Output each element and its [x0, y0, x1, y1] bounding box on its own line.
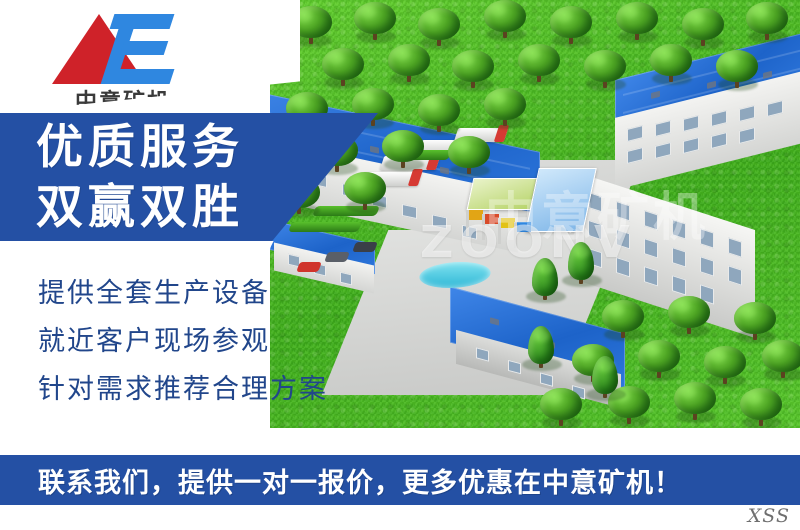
- tree-icon: [482, 0, 528, 44]
- promo-poster: 中意矿机 ZOONV 中意矿机 优质服务 双赢双胜 提供全套生产设备 就近客户现…: [0, 0, 800, 530]
- logo-e-bar-top: [110, 14, 175, 29]
- company-logo: 中意矿机: [50, 8, 190, 108]
- footer-banner: 联系我们，提供一对一报价，更多优惠在中意矿机！: [0, 455, 800, 505]
- white-divider: [0, 428, 800, 455]
- tree-icon: [558, 246, 604, 290]
- tree-icon: [380, 130, 426, 174]
- hedge-row: [288, 222, 362, 232]
- tree-icon: [672, 382, 718, 426]
- tree-icon: [446, 136, 492, 180]
- logo-e-bar-middle: [120, 41, 169, 55]
- tree-icon: [516, 44, 562, 88]
- tree-icon: [352, 2, 398, 46]
- building-workshop-northeast: [615, 55, 800, 185]
- tree-icon: [614, 2, 660, 46]
- bullet-item: 针对需求推荐合理方案: [38, 366, 378, 414]
- tree-icon: [648, 44, 694, 88]
- tree-icon: [538, 388, 584, 430]
- tree-icon: [666, 296, 712, 340]
- tree-icon: [600, 300, 646, 344]
- tree-icon: [636, 340, 682, 384]
- car: [324, 252, 350, 262]
- tree-icon: [320, 48, 366, 92]
- car: [352, 242, 378, 252]
- footer-text: 联系我们，提供一对一报价，更多优惠在中意矿机！: [38, 461, 682, 500]
- tree-icon: [582, 360, 628, 404]
- logo-e-bar-bottom: [104, 69, 175, 84]
- tree-icon: [714, 50, 760, 94]
- tree-icon: [386, 44, 432, 88]
- corner-watermark: XSS: [748, 505, 790, 527]
- bullet-item: 就近客户现场参观: [38, 318, 378, 366]
- bullet-list: 提供全套生产设备 就近客户现场参观 针对需求推荐合理方案: [38, 270, 378, 414]
- logo-area: 中意矿机: [0, 0, 300, 113]
- tree-icon: [518, 330, 564, 374]
- tree-icon: [738, 388, 784, 430]
- tree-icon: [760, 340, 800, 384]
- tree-icon: [582, 50, 628, 94]
- tree-icon: [342, 172, 388, 216]
- tree-icon: [744, 2, 790, 46]
- logo-company-name: 中意矿机: [58, 84, 188, 116]
- tree-icon: [482, 88, 528, 132]
- headline-line-1: 优质服务: [36, 113, 378, 178]
- bullet-item: 提供全套生产设备: [38, 270, 378, 318]
